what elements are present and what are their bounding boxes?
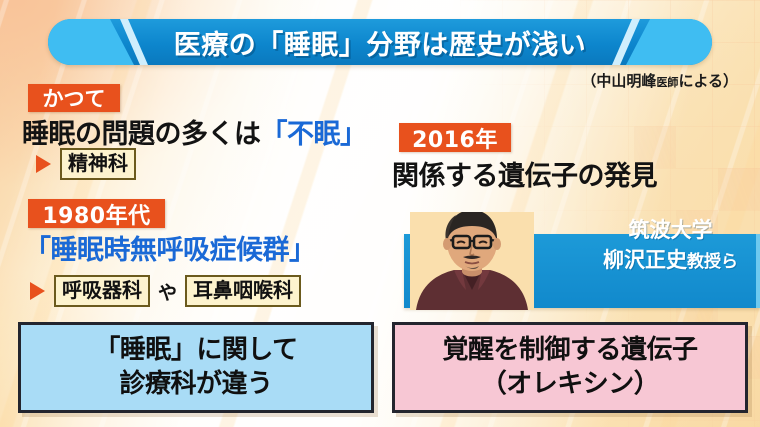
chip-department: 耳鼻咽喉科 xyxy=(185,275,301,307)
researcher-title: 教授ら xyxy=(687,252,738,272)
researcher-block: 筑波大学 柳沢正史教授ら xyxy=(404,212,756,310)
researcher-affiliation: 筑波大学 xyxy=(603,216,738,246)
badge-eighties: 1980年代 xyxy=(28,199,165,228)
chip-department: 呼吸器科 xyxy=(54,275,150,307)
chip-department: 精神科 xyxy=(60,148,136,180)
attribution-open: （中山明峰 xyxy=(581,72,656,90)
conclusion-right-line1: 覚醒を制御する遺伝子 xyxy=(442,334,697,367)
conclusion-box-left: 「睡眠」に関して 診療科が違う xyxy=(18,322,374,413)
researcher-name-line: 柳沢正史教授ら xyxy=(603,246,738,276)
past-statement: 睡眠の問題の多くは「不眠」 xyxy=(22,112,367,151)
past-department-row: 精神科 xyxy=(36,148,136,180)
chip-separator: や xyxy=(156,278,179,305)
researcher-portrait-illustration xyxy=(410,212,534,310)
researcher-name-text: 筑波大学 柳沢正史教授ら xyxy=(603,216,738,276)
past-statement-highlight: 「不眠」 xyxy=(261,119,367,150)
page-title: 医療の「睡眠」分野は歴史が浅い xyxy=(48,19,712,65)
news-graphic-stage: 医療の「睡眠」分野は歴史が浅い （中山明峰医師による） かつて 睡眠の問題の多く… xyxy=(0,0,760,427)
eighties-department-row: 呼吸器科 や 耳鼻咽喉科 xyxy=(30,275,301,307)
attribution: （中山明峰医師による） xyxy=(581,70,738,91)
eighties-statement: 「睡眠時無呼吸症候群」 xyxy=(24,228,316,267)
past-statement-prefix: 睡眠の問題の多くは xyxy=(22,119,261,150)
conclusion-right-line2: （オレキシン） xyxy=(442,368,697,401)
conclusion-left-line1: 「睡眠」に関して xyxy=(94,334,297,367)
title-banner-background: 医療の「睡眠」分野は歴史が浅い xyxy=(48,19,712,65)
attribution-close: による） xyxy=(678,72,738,90)
conclusion-left-line2: 診療科が違う xyxy=(94,368,297,401)
y2016-statement: 関係する遺伝子の発見 xyxy=(392,154,657,193)
badge-past: かつて xyxy=(28,84,120,112)
title-banner: 医療の「睡眠」分野は歴史が浅い xyxy=(48,19,712,65)
arrow-right-icon xyxy=(30,282,45,300)
arrow-right-icon xyxy=(36,155,51,173)
conclusion-left-text: 「睡眠」に関して 診療科が違う xyxy=(94,334,297,401)
conclusion-box-right: 覚醒を制御する遺伝子 （オレキシン） xyxy=(392,322,748,413)
badge-2016: 2016年 xyxy=(399,123,511,152)
researcher-name: 柳沢正史 xyxy=(603,248,687,272)
researcher-photo xyxy=(410,212,534,310)
attribution-small: 医師 xyxy=(656,76,678,89)
conclusion-right-text: 覚醒を制御する遺伝子 （オレキシン） xyxy=(442,334,697,401)
